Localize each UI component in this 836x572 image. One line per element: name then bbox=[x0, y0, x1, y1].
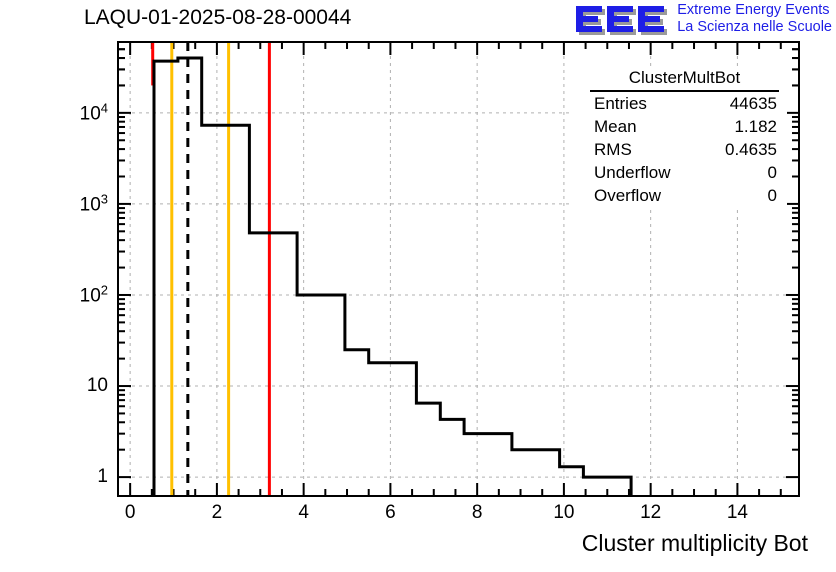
eee-logo-text: Extreme Energy Events La Scienza nelle S… bbox=[677, 2, 832, 36]
x-axis-title: Cluster multiplicity Bot bbox=[582, 530, 808, 557]
stats-label: RMS bbox=[594, 139, 632, 160]
eee-logo-line2: La Scienza nelle Scuole bbox=[677, 19, 832, 36]
y-tick-label-100: 102 bbox=[80, 282, 108, 307]
x-tick-label-14: 14 bbox=[727, 502, 748, 524]
stats-label: Underflow bbox=[594, 162, 671, 183]
stats-row-overflow: Overflow0 bbox=[572, 184, 787, 207]
stats-value: 0 bbox=[768, 185, 777, 206]
x-tick-label-10: 10 bbox=[553, 502, 574, 524]
stats-value: 0 bbox=[768, 162, 777, 183]
y-tick-label-1000: 103 bbox=[80, 191, 108, 216]
x-tick-label-0: 0 bbox=[125, 502, 136, 524]
stats-value: 44635 bbox=[730, 93, 777, 114]
x-tick-label-8: 8 bbox=[472, 502, 483, 524]
stats-row-rms: RMS0.4635 bbox=[572, 138, 787, 161]
stats-row-entries: Entries44635 bbox=[572, 92, 787, 115]
x-tick-label-2: 2 bbox=[212, 502, 223, 524]
stats-label: Entries bbox=[594, 93, 647, 114]
y-tick-label-10: 10 bbox=[87, 375, 108, 397]
stats-value: 1.182 bbox=[734, 116, 777, 137]
x-tick-label-6: 6 bbox=[385, 502, 396, 524]
stats-label: Overflow bbox=[594, 185, 661, 206]
stats-value: 0.4635 bbox=[725, 139, 777, 160]
stats-title: ClusterMultBot bbox=[590, 66, 779, 92]
y-tick-label-1: 1 bbox=[97, 466, 108, 488]
eee-logo: Extreme Energy Events La Scienza nelle S… bbox=[574, 2, 832, 38]
stats-row-mean: Mean1.182 bbox=[572, 115, 787, 138]
stats-label: Mean bbox=[594, 116, 637, 137]
stats-box: ClusterMultBot Entries44635Mean1.182RMS0… bbox=[572, 66, 787, 206]
x-tick-label-12: 12 bbox=[640, 502, 661, 524]
eee-logo-line1: Extreme Energy Events bbox=[677, 2, 832, 19]
eee-mark-icon bbox=[574, 2, 670, 38]
x-tick-label-4: 4 bbox=[298, 502, 309, 524]
stats-row-underflow: Underflow0 bbox=[572, 161, 787, 184]
page-title: LAQU-01-2025-08-28-00044 bbox=[84, 6, 351, 30]
y-tick-label-10000: 104 bbox=[80, 100, 108, 125]
